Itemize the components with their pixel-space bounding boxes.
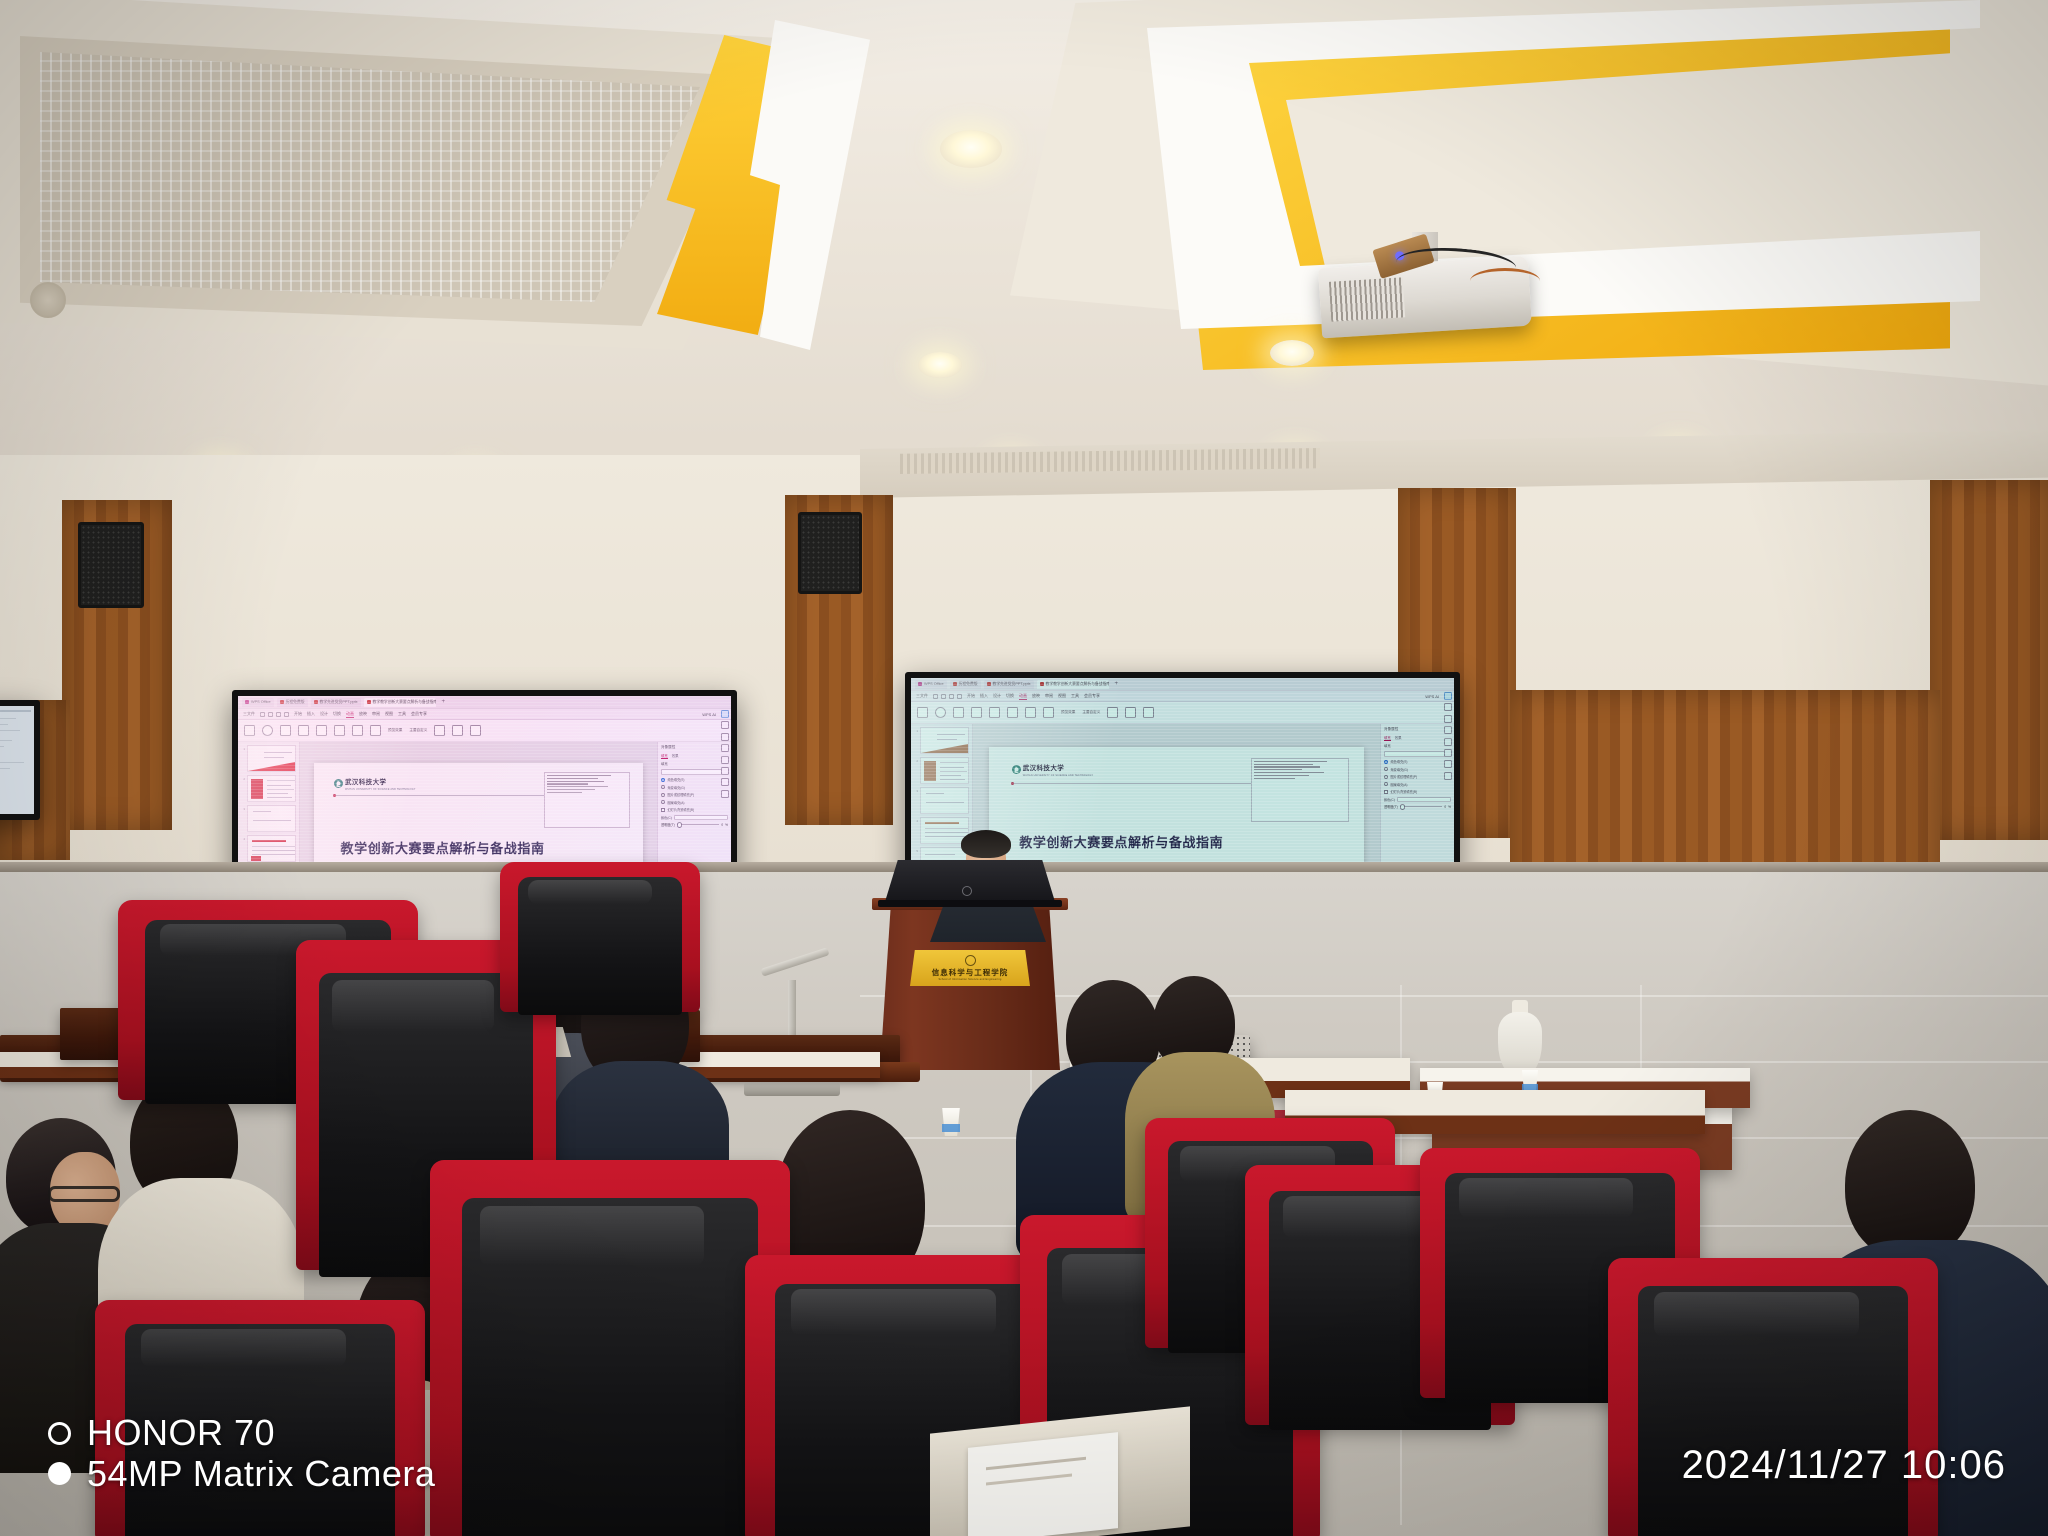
fill-option-background[interactable]: 幻灯片背景填充(B) (661, 807, 728, 812)
wps-tab-label: WPS Office (924, 682, 944, 686)
thumbnail-line (253, 811, 271, 812)
transparency-slider[interactable] (677, 824, 720, 825)
fill-option-label: 图片或纹理填充(P) (1391, 774, 1418, 779)
thumbnail-line (925, 822, 959, 824)
wps-tabbar: WPS Office 历程免费版 教学先进党员PPT.pptx 教学教学创新大赛… (238, 696, 731, 709)
wps-tab-doc[interactable]: 历程免费版 (950, 680, 981, 689)
menu-file[interactable]: 三文件 (243, 711, 255, 717)
thumbnail-row[interactable]: 2 (241, 775, 296, 802)
radio-icon[interactable] (661, 800, 665, 804)
undo-icon[interactable] (949, 694, 954, 699)
transparency-unit: % (1448, 805, 1451, 809)
pane-color-row[interactable]: 颜色(C) (661, 815, 728, 820)
menu-view[interactable]: 视图 (385, 711, 393, 717)
ribbon-anim-wipe[interactable] (280, 725, 291, 736)
transparency-unit: % (725, 823, 728, 827)
chair-highlight (791, 1289, 996, 1335)
new-tab-button[interactable]: + (1112, 681, 1122, 687)
print-icon[interactable] (941, 694, 946, 699)
ribbon-anim-zoom[interactable] (352, 725, 363, 736)
fill-option-label: 图案填充(A) (1391, 782, 1408, 787)
menu-tools[interactable]: 工具 (1071, 693, 1079, 699)
ribbon-label-preview: 预览效果 (388, 728, 402, 733)
ceiling (0, 0, 2048, 470)
ceiling-downlight-2 (918, 352, 962, 378)
redo-icon[interactable] (284, 712, 289, 717)
wps-tab-label: WPS Office (251, 700, 271, 704)
pane-tool-text-icon[interactable] (1444, 760, 1452, 768)
pane-color-label: 颜色(C) (1384, 797, 1395, 802)
fill-option-picture[interactable]: 图片或纹理填充(P) (1384, 774, 1451, 779)
ribbon-anim-more[interactable] (1043, 707, 1054, 718)
auditorium-chair-4[interactable] (430, 1160, 790, 1536)
ribbon-anim-trigger[interactable] (1143, 707, 1154, 718)
ribbon-anim-fade[interactable] (262, 725, 273, 736)
slide-university-logo: 武汉科技大学 WUHAN UNIVERSITY OF SCIENCE AND T… (334, 776, 416, 791)
transparency-value: 0 (1444, 805, 1446, 809)
ribbon-anim-split[interactable] (334, 725, 345, 736)
pane-fill-select[interactable] (661, 769, 728, 775)
thumbnail-line (940, 779, 965, 780)
person-head (1845, 1110, 1975, 1260)
pane-tab-fill[interactable]: 填充 (1384, 735, 1391, 741)
ribbon-anim-play[interactable] (1125, 707, 1136, 718)
fill-option-label: 图案填充(A) (668, 800, 685, 805)
wps-tab-ppt-2[interactable]: 教学教学创新大赛要点解析与备战指南 (1037, 680, 1109, 689)
thumbnail-row[interactable]: 3 (241, 805, 296, 832)
menu-review[interactable]: 审阅 (1045, 693, 1053, 699)
pane-tool-chart-icon[interactable] (721, 744, 729, 752)
transparency-slider[interactable] (1400, 806, 1443, 807)
circle-outline-icon (48, 1422, 71, 1445)
university-name: 武汉科技大学 (1023, 765, 1064, 772)
menu-view[interactable]: 视图 (1058, 693, 1066, 699)
chair-highlight (528, 880, 652, 904)
thumbnail-line (925, 828, 969, 829)
menu-animation[interactable]: 动画 (1019, 693, 1027, 700)
thumbnail-line (937, 734, 965, 735)
thumbnail-triangle (921, 744, 968, 753)
wps-tab-ppt-1[interactable]: 教学先进党员PPT.pptx (311, 698, 361, 707)
thumbnail-number: 3 (914, 787, 918, 793)
projector-cable-orange (1470, 268, 1540, 294)
checkbox-icon[interactable] (661, 808, 665, 812)
slide-thumbnail[interactable] (247, 805, 296, 832)
menu-member[interactable]: 会员专享 (411, 711, 427, 717)
wps-logo-icon (245, 700, 249, 704)
wps-tabbar: WPS Office 历程免费版 教学先进党员PPT.pptx 教学教学创新大赛… (911, 678, 1454, 691)
wps-menubar: 三文件 开始 插入 设计 切换 动画 放映 审阅 视图 工具 (238, 709, 731, 720)
camera-watermark: HONOR 70 54MP Matrix Camera (48, 1413, 435, 1494)
wps-tab-home[interactable]: WPS Office (242, 698, 274, 707)
pane-header: 对象属性 ✕ (1384, 727, 1451, 732)
doc-icon (280, 700, 284, 704)
fill-option-gradient[interactable]: 渐变填充(G) (661, 785, 728, 790)
wall-monitor-far-left (0, 700, 40, 820)
fill-option-solid[interactable]: 纯色填充(S) (1384, 759, 1451, 764)
pane-tool-text-icon[interactable] (721, 778, 729, 786)
quick-access-toolbar (933, 694, 962, 699)
slide-thumbnail[interactable] (247, 745, 296, 772)
wps-tab-label: 历程免费版 (286, 700, 305, 705)
chair-highlight (332, 980, 493, 1033)
wps-tab-label: 教学先进党员PPT.pptx (320, 700, 358, 705)
thumbnail-line (926, 793, 944, 794)
ppt-icon (1040, 682, 1044, 686)
menu-design[interactable]: 设计 (320, 711, 328, 717)
watermark-brand-row: HONOR 70 (48, 1413, 435, 1453)
podium-plaque-text-cn: 信息科学与工程学院 (932, 967, 1009, 978)
pane-tool-image-icon[interactable] (721, 733, 729, 741)
pane-tool-chart-icon[interactable] (1444, 726, 1452, 734)
wps-menubar: 三文件 开始 插入 设计 切换 动画 放映 审阅 视图 工具 (911, 691, 1454, 702)
menu-insert[interactable]: 插入 (980, 693, 988, 699)
pane-tool-table-icon[interactable] (721, 767, 729, 775)
thumbnail-line (925, 854, 955, 855)
ribbon-anim-zoom[interactable] (1025, 707, 1036, 718)
thumbnail-row[interactable]: 4 (241, 835, 296, 862)
circle-filled-icon (48, 1462, 71, 1485)
ribbon-anim-fly[interactable] (298, 725, 309, 736)
ribbon-label-custom: 主要自定义 (409, 728, 427, 733)
thumbnail-line (926, 802, 964, 803)
pane-tool-shape-icon[interactable] (1444, 738, 1452, 746)
ribbon-anim-play[interactable] (452, 725, 463, 736)
thumbnail-line (267, 789, 294, 790)
ribbon-anim-fly[interactable] (971, 707, 982, 718)
university-name-en: WUHAN UNIVERSITY OF SCIENCE AND TECHNOLO… (1023, 774, 1094, 777)
checkbox-icon[interactable] (1384, 790, 1388, 794)
fill-option-pattern[interactable]: 图案填充(A) (661, 800, 728, 805)
fill-option-label: 图片或纹理填充(P) (668, 792, 695, 797)
thumbnail-line (267, 793, 288, 794)
ppt-icon (314, 700, 318, 704)
doc-icon (953, 682, 957, 686)
wps-logo-icon (918, 682, 922, 686)
slide-floating-note[interactable] (1251, 758, 1348, 822)
person-glasses-icon (48, 1186, 120, 1202)
auditorium-chair-5[interactable] (500, 862, 700, 1012)
watermark-camera-row: 54MP Matrix Camera (48, 1454, 435, 1494)
thumbnail-row[interactable]: 1 (914, 727, 969, 754)
thumbnail-red-block (924, 761, 936, 781)
wood-column-far-right (1930, 480, 2048, 840)
quick-access-toolbar (260, 712, 289, 717)
color-picker[interactable] (1397, 797, 1451, 802)
ribbon-anim-pane-toggle[interactable] (1107, 707, 1118, 718)
thumbnail-line (253, 820, 291, 821)
pane-color-row[interactable]: 颜色(C) (1384, 797, 1451, 802)
thumbnail-line (252, 846, 296, 847)
radio-icon[interactable] (661, 793, 665, 797)
thumbnail-line (940, 767, 964, 768)
radio-icon[interactable] (1384, 775, 1388, 779)
ribbon-anim-none[interactable] (917, 707, 928, 718)
college-seal-icon (965, 955, 976, 966)
ceiling-downlight-1 (940, 130, 1002, 168)
watermark-camera: 54MP Matrix Camera (87, 1454, 435, 1494)
slide-thumbnail[interactable] (247, 835, 296, 862)
fill-option-label: 纯色填充(S) (668, 777, 685, 782)
wps-ribbon: 预览效果 主要自定义 (238, 720, 731, 742)
laptop-logo-icon (962, 886, 972, 896)
pane-header: 对象属性 ✕ (661, 745, 728, 750)
pane-tool-shape-icon[interactable] (721, 756, 729, 764)
pane-tool-help-icon[interactable] (1444, 772, 1452, 780)
color-picker[interactable] (674, 815, 728, 820)
pane-tabs[interactable]: 填充 效果 (661, 753, 728, 759)
thumbnail-line (264, 752, 292, 753)
pane-side-toolbar[interactable] (721, 710, 729, 798)
pane-tab-fill[interactable]: 填充 (661, 753, 668, 759)
pane-transparency-row[interactable]: 透明度(T) 0 % (661, 822, 728, 827)
podium-plaque-text-en: School of Information Science and Engine… (938, 978, 1001, 981)
pane-color-label: 颜色(C) (661, 815, 672, 820)
podium-laptop-base (878, 900, 1062, 907)
fill-option-background[interactable]: 幻灯片背景填充(B) (1384, 789, 1451, 794)
wps-tab-label: 教学先进党员PPT.pptx (993, 682, 1031, 687)
wps-tab-label: 教学教学创新大赛要点解析与备战指南 (373, 700, 436, 705)
wps-tab-label: 教学教学创新大赛要点解析与备战指南 (1046, 682, 1109, 687)
menu-transition[interactable]: 切换 (333, 711, 341, 717)
ribbon-anim-float[interactable] (316, 725, 327, 736)
wps-tab-home[interactable]: WPS Office (915, 680, 947, 689)
menu-review[interactable]: 审阅 (372, 711, 380, 717)
save-icon[interactable] (933, 694, 938, 699)
save-icon[interactable] (260, 712, 265, 717)
ribbon-anim-split[interactable] (1007, 707, 1018, 718)
ribbon-anim-float[interactable] (989, 707, 1000, 718)
radio-icon[interactable] (1384, 782, 1388, 786)
photo-scene: WPS Office 历程免费版 教学先进党员PPT.pptx 教学教学创新大赛… (0, 0, 2048, 1536)
thumbnail-triangle (248, 762, 295, 771)
paper-cup-band (942, 1124, 960, 1132)
university-name-en: WUHAN UNIVERSITY OF SCIENCE AND TECHNOLO… (345, 788, 416, 791)
wall-speaker-center (798, 512, 862, 594)
menu-insert[interactable]: 插入 (307, 711, 315, 717)
podium-laptop (884, 860, 1056, 905)
chair-highlight (1654, 1292, 1859, 1337)
thumbnail-line (925, 836, 969, 837)
ppt-icon (987, 682, 991, 686)
pane-section-label: 填充 (661, 761, 728, 766)
slide-university-logo: 武汉科技大学 WUHAN UNIVERSITY OF SCIENCE AND T… (1012, 762, 1094, 777)
wps-ai-button[interactable]: WPS AI (1425, 694, 1439, 699)
pane-title: 对象属性 (1384, 727, 1398, 732)
thumbnail-row[interactable]: 2 (914, 757, 969, 784)
thumbnail-line (267, 785, 291, 786)
thumbnail-number: 4 (914, 817, 918, 823)
thumbnail-line (940, 771, 967, 772)
ribbon-label-preview: 预览效果 (1061, 710, 1075, 715)
pane-side-toolbar[interactable] (1444, 692, 1452, 780)
pane-tool-help-icon[interactable] (721, 790, 729, 798)
ribbon-label-custom: 主要自定义 (1082, 710, 1100, 715)
thumbnail-number: 5 (914, 847, 918, 853)
pane-fill-select[interactable] (1384, 751, 1451, 757)
chair-highlight (1459, 1178, 1633, 1218)
thumbnail-red-block (251, 779, 263, 799)
new-tab-button[interactable]: + (439, 699, 449, 705)
fill-option-solid[interactable]: 纯色填充(S) (661, 777, 728, 782)
fill-option-gradient[interactable]: 渐变填充(G) (1384, 767, 1451, 772)
wps-ai-button[interactable]: WPS AI (702, 712, 716, 717)
thumbnail-line (252, 840, 286, 842)
thumbnail-row[interactable]: 3 (914, 787, 969, 814)
transparency-value: 0 (721, 823, 723, 827)
microphone-base (744, 1082, 840, 1096)
wps-tab-label: 历程免费版 (959, 682, 978, 687)
ppt-icon (367, 700, 371, 704)
thumbnail-line (940, 775, 961, 776)
undo-icon[interactable] (276, 712, 281, 717)
thumbnail-number: 2 (241, 775, 245, 781)
thumbnail-line (940, 762, 969, 763)
radio-icon[interactable] (661, 778, 665, 782)
fill-option-label: 纯色填充(S) (1391, 759, 1408, 764)
menu-file[interactable]: 三文件 (916, 693, 928, 699)
thumbnail-line (264, 757, 284, 758)
wps-tab-doc[interactable]: 历程免费版 (277, 698, 308, 707)
menu-start[interactable]: 开始 (294, 711, 302, 717)
fill-option-pattern[interactable]: 图案填充(A) (1384, 782, 1451, 787)
podium-plaque: 信息科学与工程学院 School of Information Science … (910, 950, 1030, 986)
ribbon-anim-none[interactable] (244, 725, 255, 736)
menu-start[interactable]: 开始 (967, 693, 975, 699)
fill-option-label: 渐变填充(G) (1391, 767, 1408, 772)
pane-title: 对象属性 (661, 745, 675, 750)
slide-thumbnail[interactable] (920, 727, 969, 754)
slide-thumbnail[interactable] (920, 757, 969, 784)
wps-tab-ppt-1[interactable]: 教学先进党员PPT.pptx (984, 680, 1034, 689)
thumbnail-line (267, 797, 292, 798)
thumbnail-line (252, 850, 296, 851)
redo-icon[interactable] (957, 694, 962, 699)
ceiling-downlight-3 (1270, 340, 1314, 366)
wall-speaker-left (78, 522, 144, 608)
menu-member[interactable]: 会员专享 (1084, 693, 1100, 699)
fill-option-picture[interactable]: 图片或纹理填充(P) (661, 792, 728, 797)
thumbnail-line (925, 832, 969, 833)
pane-tool-star-icon[interactable] (1444, 703, 1452, 711)
ribbon-anim-trigger[interactable] (470, 725, 481, 736)
menu-transition[interactable]: 切换 (1006, 693, 1014, 699)
pane-tab-effect[interactable]: 效果 (672, 753, 679, 759)
transparency-label: 透明度(T) (1384, 804, 1398, 809)
menu-tools[interactable]: 工具 (398, 711, 406, 717)
speaker-hair (961, 830, 1011, 858)
menu-design[interactable]: 设计 (993, 693, 1001, 699)
ceiling-speaker-grille (30, 282, 66, 318)
thumbnail-number: 3 (241, 805, 245, 811)
menu-slideshow[interactable]: 放映 (359, 711, 367, 717)
thumbnail-number: 1 (914, 727, 918, 733)
pane-section-label: 填充 (1384, 743, 1451, 748)
thumbnail-line (937, 739, 957, 740)
chair-highlight (141, 1329, 346, 1367)
wps-ribbon: 预览效果 主要自定义 (911, 702, 1454, 724)
print-icon[interactable] (268, 712, 273, 717)
slide-thumbnail[interactable] (247, 775, 296, 802)
university-seal-icon (334, 779, 343, 788)
pane-tool-star-icon[interactable] (721, 721, 729, 729)
radio-icon[interactable] (1384, 760, 1388, 764)
fill-option-label: 幻灯片背景填充(B) (1391, 789, 1418, 794)
university-seal-icon (1012, 765, 1021, 774)
pane-tool-fill-icon[interactable] (1444, 692, 1452, 700)
ribbon-anim-more[interactable] (370, 725, 381, 736)
transparency-label: 透明度(T) (661, 822, 675, 827)
pane-transparency-row[interactable]: 透明度(T) 0 % (1384, 804, 1451, 809)
auditorium-chair-11[interactable] (1608, 1258, 1938, 1536)
menu-animation[interactable]: 动画 (346, 711, 354, 718)
menu-slideshow[interactable]: 放映 (1032, 693, 1040, 699)
slide-title: 教学创新大赛要点解析与备战指南 (1019, 832, 1341, 851)
wps-tab-ppt-2[interactable]: 教学教学创新大赛要点解析与备战指南 (364, 698, 436, 707)
ribbon-anim-fade[interactable] (935, 707, 946, 718)
ribbon-anim-pane-toggle[interactable] (434, 725, 445, 736)
projector-vent (1329, 277, 1405, 321)
slide-thumbnail[interactable] (920, 787, 969, 814)
thumbnail-number: 1 (241, 745, 245, 751)
pane-tool-image-icon[interactable] (1444, 715, 1452, 723)
fill-option-label: 渐变填充(G) (668, 785, 685, 790)
thumbnail-row[interactable]: 1 (241, 745, 296, 772)
university-name: 武汉科技大学 (345, 779, 386, 786)
radio-icon[interactable] (1384, 767, 1388, 771)
ribbon-anim-wipe[interactable] (953, 707, 964, 718)
pane-tab-effect[interactable]: 效果 (1395, 735, 1402, 741)
pane-tabs[interactable]: 填充 效果 (1384, 735, 1451, 741)
ceiling-acoustic-grid-left (40, 52, 700, 302)
thumbnail-number: 4 (241, 835, 245, 841)
thumbnail-line (252, 854, 296, 855)
thumbnail-line (267, 780, 296, 781)
pane-tool-table-icon[interactable] (1444, 749, 1452, 757)
slide-title: 教学创新大赛要点解析与备战指南 (341, 838, 623, 857)
watermark-timestamp: 2024/11/27 10:06 (1682, 1443, 2006, 1488)
radio-icon[interactable] (661, 785, 665, 789)
slide-floating-note[interactable] (544, 772, 629, 828)
fill-option-label: 幻灯片背景填充(B) (668, 807, 695, 812)
pane-tool-fill-icon[interactable] (721, 710, 729, 718)
watermark-brand: HONOR 70 (87, 1413, 275, 1453)
thumbnail-number: 2 (914, 757, 918, 763)
chair-highlight (480, 1206, 703, 1267)
